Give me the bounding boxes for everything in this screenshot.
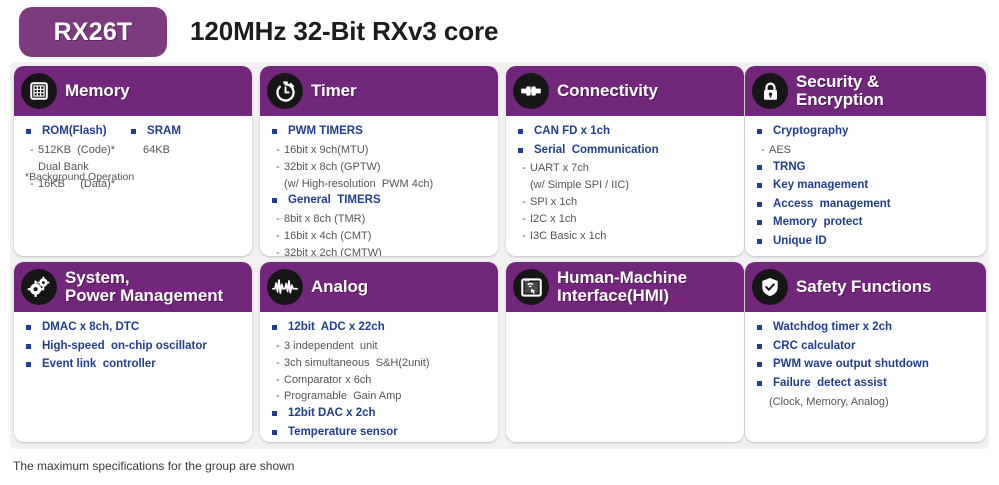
dash-marker-icon: - (276, 373, 284, 388)
square-bullet-icon (757, 362, 762, 367)
feature-subitem-label: Comparator x 6ch (284, 373, 371, 388)
gears-icon (21, 269, 57, 305)
feature-subitem: -32bit x 2ch (CMTW) (260, 246, 498, 256)
feature-card-human-machine-interface[interactable]: Human-Machine Interface(HMI) (506, 262, 744, 442)
feature-item: Serial Communication (506, 143, 744, 162)
square-bullet-icon (518, 148, 523, 153)
feature-item-label: CAN FD x 1ch (534, 124, 610, 140)
connector-plug-icon (513, 73, 549, 109)
feature-item-label: SRAM (147, 124, 181, 140)
card-body-human-machine-interface (506, 312, 744, 320)
dash-marker-icon: - (276, 143, 284, 158)
square-bullet-icon (26, 362, 31, 367)
feature-item: Failure detect assist (745, 376, 986, 395)
core-title: 120MHz 32-Bit RXv3 core (190, 16, 498, 47)
square-bullet-icon (272, 198, 277, 203)
dash-marker-icon: - (522, 212, 530, 227)
square-bullet-icon (757, 183, 762, 188)
card-title: Safety Functions (796, 278, 931, 296)
feature-item-label: PWM wave output shutdown (773, 357, 929, 373)
feature-subitem-label: AES (769, 143, 791, 158)
square-bullet-icon (757, 239, 762, 244)
feature-subitem-label: I3C Basic x 1ch (530, 229, 606, 244)
feature-subitem: -32bit x 8ch (GPTW) (260, 160, 498, 177)
card-footnote: *Background Operation (25, 171, 134, 183)
square-bullet-icon (26, 344, 31, 349)
feature-item: ROM(Flash) (14, 124, 115, 143)
feature-item: 12bit DAC x 2ch (260, 406, 498, 425)
feature-continuation-label: (w/ Simple SPI / IIC) (530, 178, 629, 193)
square-bullet-icon (272, 129, 277, 134)
chip-badge-label: RX26T (54, 18, 133, 47)
feature-subitem-label: 32bit x 8ch (GPTW) (284, 160, 381, 175)
feature-item-label: Access management (773, 197, 891, 213)
feature-subitem-label: SPI x 1ch (530, 195, 577, 210)
feature-subitem: -8bit x 8ch (TMR) (260, 212, 498, 229)
feature-subitem: -UART x 7ch (506, 161, 744, 178)
feature-item: Event link controller (14, 357, 252, 376)
feature-card-memory[interactable]: MemoryROM(Flash)-512KB (Code)*Dual Bank-… (14, 66, 252, 256)
dash-marker-icon: - (522, 195, 530, 210)
feature-item: Cryptography (745, 124, 986, 143)
feature-item: Temperature sensor (260, 425, 498, 442)
card-body-memory: ROM(Flash)-512KB (Code)*Dual Bank-16KB (… (14, 116, 252, 193)
feature-card-security-encryption[interactable]: Security & EncryptionCryptography-AESTRN… (745, 66, 986, 256)
card-body-security-encryption: Cryptography-AESTRNGKey managementAccess… (745, 116, 986, 253)
card-title: Security & Encryption (796, 73, 884, 109)
shield-check-icon (752, 269, 788, 305)
chip-badge: RX26T (19, 7, 167, 57)
square-bullet-icon (26, 325, 31, 330)
feature-continuation-label: 64KB (143, 143, 170, 158)
square-bullet-icon (26, 129, 31, 134)
card-header-system-power-management: System, Power Management (14, 262, 252, 312)
feature-item: Key management (745, 178, 986, 197)
square-bullet-icon (757, 381, 762, 386)
feature-item-label: PWM TIMERS (288, 124, 363, 140)
feature-card-analog[interactable]: Analog12bit ADC x 22ch-3 independent uni… (260, 262, 498, 442)
feature-item: Watchdog timer x 2ch (745, 320, 986, 339)
feature-subitem-label: UART x 7ch (530, 161, 589, 176)
feature-item: CAN FD x 1ch (506, 124, 744, 143)
feature-subitem: -I3C Basic x 1ch (506, 229, 744, 246)
touchscreen-icon (513, 269, 549, 305)
feature-continuation: (w/ High-resolution PWM 4ch) (260, 177, 498, 194)
feature-subitem-label: 3 independent unit (284, 339, 378, 354)
square-bullet-icon (272, 325, 277, 330)
card-header-human-machine-interface: Human-Machine Interface(HMI) (506, 262, 744, 312)
feature-subitem-label: 32bit x 2ch (CMTW) (284, 246, 382, 256)
card-body-system-power-management: DMAC x 8ch, DTCHigh-speed on-chip oscill… (14, 312, 252, 376)
square-bullet-icon (757, 165, 762, 170)
card-header-analog: Analog (260, 262, 498, 312)
feature-item: PWM TIMERS (260, 124, 498, 143)
feature-item-label: DMAC x 8ch, DTC (42, 320, 139, 336)
feature-continuation: 64KB (119, 143, 181, 160)
feature-subitem: -Comparator x 6ch (260, 373, 498, 390)
feature-item: High-speed on-chip oscillator (14, 339, 252, 358)
feature-subitem-label: 16bit x 9ch(MTU) (284, 143, 368, 158)
dash-marker-icon: - (276, 339, 284, 354)
feature-item-label: High-speed on-chip oscillator (42, 339, 207, 355)
feature-subitem-label: I2C x 1ch (530, 212, 576, 227)
feature-item: General TIMERS (260, 193, 498, 212)
feature-item-label: CRC calculator (773, 339, 855, 355)
card-title: Human-Machine Interface(HMI) (557, 269, 687, 305)
square-bullet-icon (757, 202, 762, 207)
card-title: Timer (311, 82, 357, 100)
feature-subitem-label: 512KB (Code)* (38, 143, 115, 158)
feature-card-safety-functions[interactable]: Safety FunctionsWatchdog timer x 2chCRC … (745, 262, 986, 442)
feature-item-label: Serial Communication (534, 143, 659, 159)
square-bullet-icon (757, 344, 762, 349)
feature-item-label: Memory protect (773, 215, 862, 231)
feature-subitem: -3 independent unit (260, 339, 498, 356)
feature-item: TRNG (745, 160, 986, 179)
card-title: Memory (65, 82, 130, 100)
feature-item: CRC calculator (745, 339, 986, 358)
feature-item-label: Event link controller (42, 357, 156, 373)
stopwatch-icon (267, 73, 303, 109)
card-body-connectivity: CAN FD x 1chSerial Communication-UART x … (506, 116, 744, 246)
feature-subitem: -16bit x 4ch (CMT) (260, 229, 498, 246)
feature-card-timer[interactable]: TimerPWM TIMERS-16bit x 9ch(MTU)-32bit x… (260, 66, 498, 256)
feature-continuation-label: (Clock, Memory, Analog) (769, 395, 889, 410)
feature-item-label: ROM(Flash) (42, 124, 107, 140)
feature-subitem: -512KB (Code)* (14, 143, 115, 160)
card-header-security-encryption: Security & Encryption (745, 66, 986, 116)
feature-item-label: Failure detect assist (773, 376, 887, 392)
feature-continuation: (Clock, Memory, Analog) (745, 395, 986, 412)
feature-item: SRAM (119, 124, 181, 143)
feature-item-label: 12bit DAC x 2ch (288, 406, 376, 422)
feature-item-label: Watchdog timer x 2ch (773, 320, 892, 336)
feature-subitem: -SPI x 1ch (506, 195, 744, 212)
card-body-safety-functions: Watchdog timer x 2chCRC calculatorPWM wa… (745, 312, 986, 411)
dash-marker-icon: - (276, 389, 284, 404)
memory-chip-icon (21, 73, 57, 109)
dash-marker-icon: - (30, 143, 38, 158)
dash-marker-icon: - (276, 356, 284, 371)
feature-subitem-label: Programable Gain Amp (284, 389, 401, 404)
square-bullet-icon (518, 129, 523, 134)
card-title: Analog (311, 278, 368, 296)
feature-item-label: Unique ID (773, 234, 827, 250)
feature-card-grid: MemoryROM(Flash)-512KB (Code)*Dual Bank-… (14, 66, 986, 446)
feature-item-label: Cryptography (773, 124, 848, 140)
feature-subitem: -Programable Gain Amp (260, 389, 498, 406)
feature-subitem: -3ch simultaneous S&H(2unit) (260, 356, 498, 373)
card-header-memory: Memory (14, 66, 252, 116)
feature-item: Access management (745, 197, 986, 216)
feature-item: Unique ID (745, 234, 986, 253)
feature-item: 12bit ADC x 22ch (260, 320, 498, 339)
square-bullet-icon (757, 129, 762, 134)
feature-card-connectivity[interactable]: ConnectivityCAN FD x 1chSerial Communica… (506, 66, 744, 256)
feature-subitem-label: 3ch simultaneous S&H(2unit) (284, 356, 430, 371)
feature-item: Memory protect (745, 215, 986, 234)
card-body-timer: PWM TIMERS-16bit x 9ch(MTU)-32bit x 8ch … (260, 116, 498, 256)
square-bullet-icon (131, 129, 136, 134)
square-bullet-icon (272, 411, 277, 416)
dash-marker-icon: - (761, 143, 769, 158)
dash-marker-icon: - (276, 246, 284, 256)
feature-item-label: General TIMERS (288, 193, 381, 209)
feature-item-label: Key management (773, 178, 868, 194)
square-bullet-icon (757, 325, 762, 330)
feature-subitem: -AES (745, 143, 986, 160)
feature-item: PWM wave output shutdown (745, 357, 986, 376)
square-bullet-icon (757, 220, 762, 225)
dash-marker-icon: - (276, 229, 284, 244)
card-body-analog: 12bit ADC x 22ch-3 independent unit-3ch … (260, 312, 498, 442)
feature-subitem: -16bit x 9ch(MTU) (260, 143, 498, 160)
feature-subitem: -I2C x 1ch (506, 212, 744, 229)
feature-card-system-power-management[interactable]: System, Power ManagementDMAC x 8ch, DTCH… (14, 262, 252, 442)
feature-continuation: (w/ Simple SPI / IIC) (506, 178, 744, 195)
dash-marker-icon: - (522, 229, 530, 244)
footer-note: The maximum specifications for the group… (13, 459, 294, 473)
feature-subitem-label: 16bit x 4ch (CMT) (284, 229, 371, 244)
feature-item-label: Temperature sensor (288, 425, 398, 441)
card-header-connectivity: Connectivity (506, 66, 744, 116)
feature-continuation-label: (w/ High-resolution PWM 4ch) (284, 177, 433, 192)
waveform-icon (267, 269, 303, 305)
card-header-timer: Timer (260, 66, 498, 116)
feature-item: DMAC x 8ch, DTC (14, 320, 252, 339)
card-title: System, Power Management (65, 269, 223, 305)
dash-marker-icon: - (276, 160, 284, 175)
card-title: Connectivity (557, 82, 658, 100)
lock-icon (752, 73, 788, 109)
square-bullet-icon (272, 430, 277, 435)
feature-subitem-label: 8bit x 8ch (TMR) (284, 212, 365, 227)
top-bar: RX26T 120MHz 32-Bit RXv3 core (0, 0, 999, 62)
feature-item-label: TRNG (773, 160, 806, 176)
dash-marker-icon: - (276, 212, 284, 227)
card-header-safety-functions: Safety Functions (745, 262, 986, 312)
dash-marker-icon: - (522, 161, 530, 176)
feature-item-label: 12bit ADC x 22ch (288, 320, 385, 336)
